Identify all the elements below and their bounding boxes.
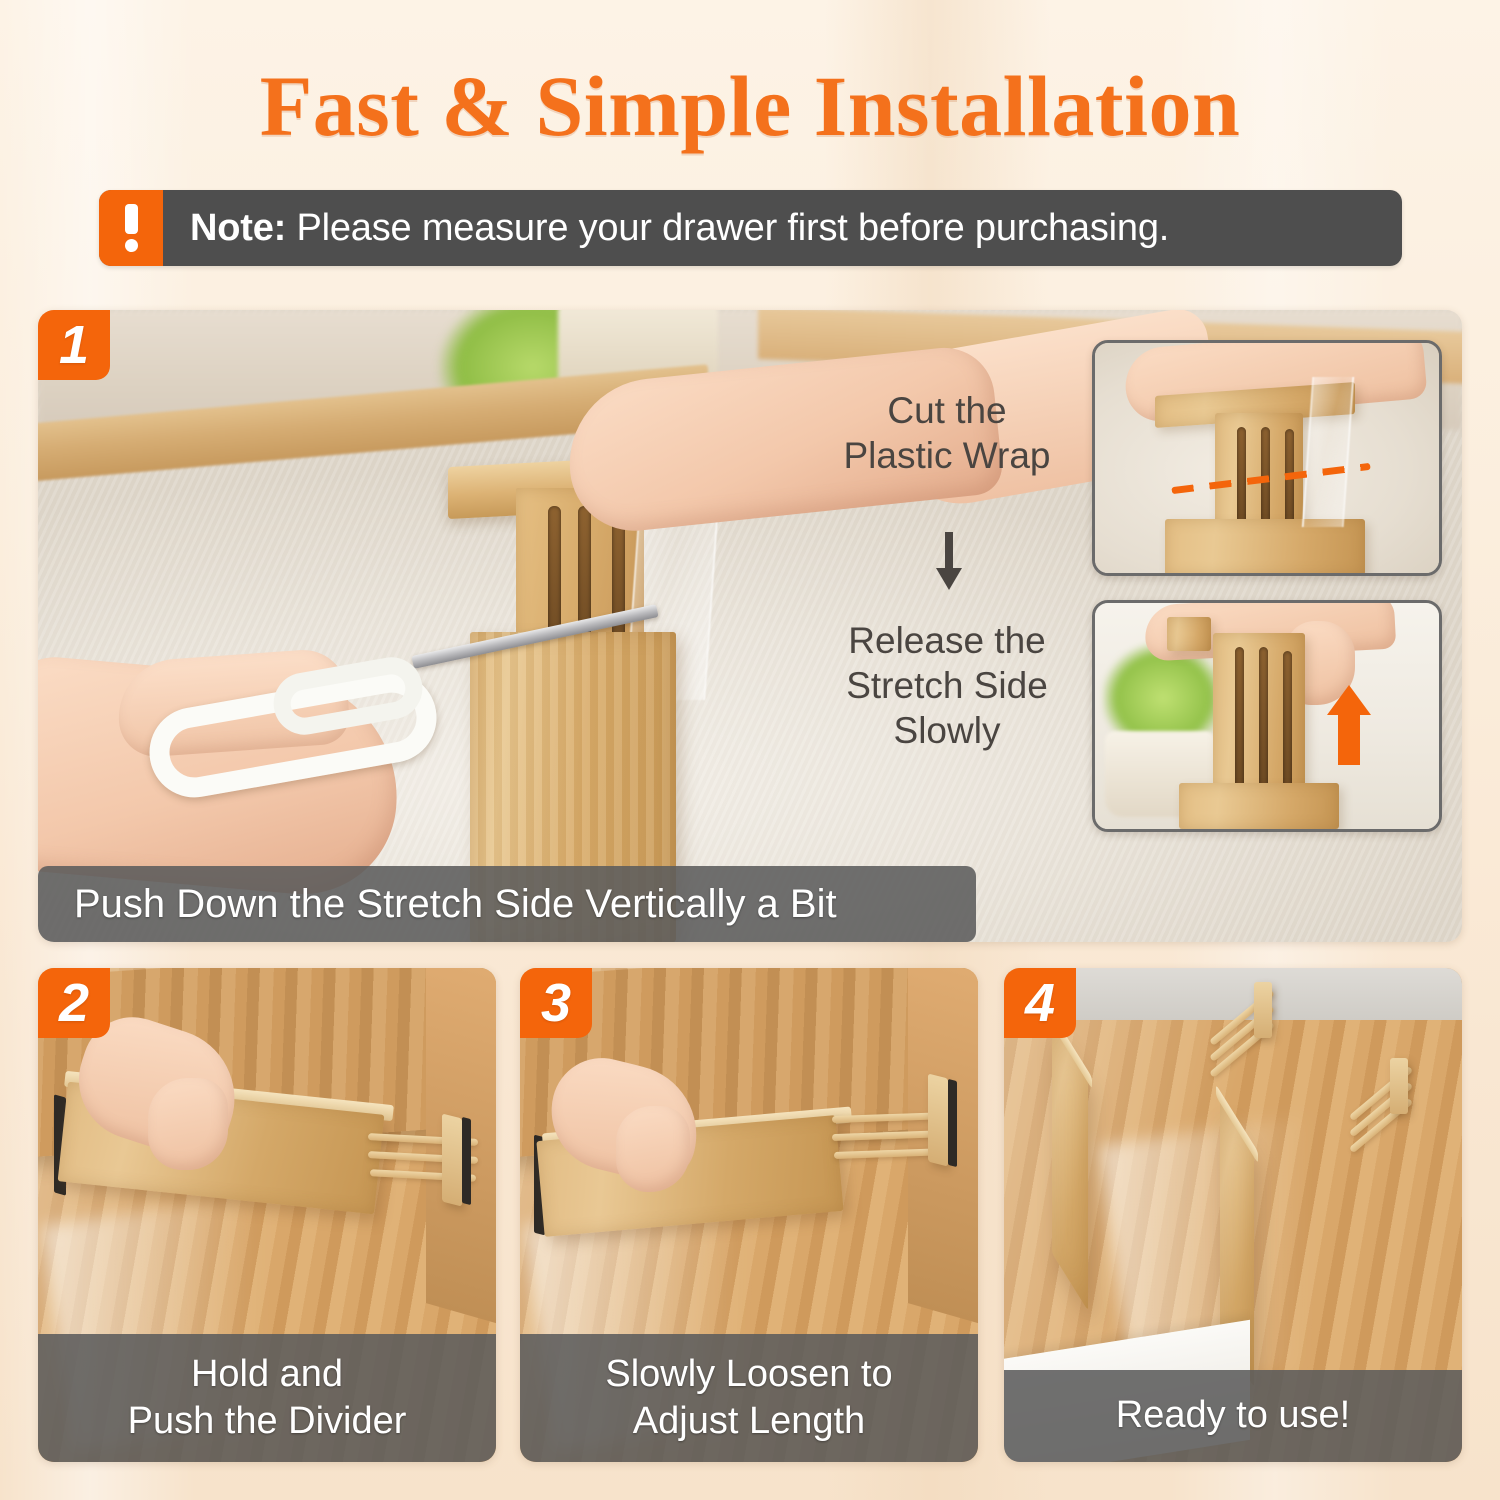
step-1-caption: Push Down the Stretch Side Vertically a … (38, 866, 976, 942)
callout-cut-plastic-wrap: Cut the Plastic Wrap (782, 388, 1112, 478)
callout-release-stretch-side: Release the Stretch Side Slowly (782, 618, 1112, 753)
step-badge-1: 1 (38, 310, 110, 380)
step-badge-4: 4 (1004, 968, 1076, 1038)
step-badge-2: 2 (38, 968, 110, 1038)
note-prefix: Note: (190, 207, 286, 249)
release-stretch-side-inset (1092, 600, 1442, 832)
note-text: Note: Please measure your drawer first b… (163, 207, 1169, 250)
step-2-panel: 2 Hold and Push the Divider (38, 968, 496, 1462)
step-3-panel: 3 Slowly Loosen to Adjust Length (520, 968, 978, 1462)
step-2-caption: Hold and Push the Divider (38, 1334, 496, 1462)
step-3-caption: Slowly Loosen to Adjust Length (520, 1334, 978, 1462)
step-1-panel: Cut the Plastic Wrap Release the Stretch… (38, 310, 1462, 942)
exclamation-icon (99, 190, 163, 266)
step-4-panel: 4 Ready to use! (1004, 968, 1462, 1462)
note-body: Please measure your drawer first before … (286, 207, 1169, 249)
step-badge-3: 3 (520, 968, 592, 1038)
note-banner: Note: Please measure your drawer first b… (99, 190, 1402, 266)
step-4-caption: Ready to use! (1004, 1370, 1462, 1462)
cut-plastic-wrap-inset (1092, 340, 1442, 576)
page-title: Fast & Simple Installation (0, 56, 1500, 156)
